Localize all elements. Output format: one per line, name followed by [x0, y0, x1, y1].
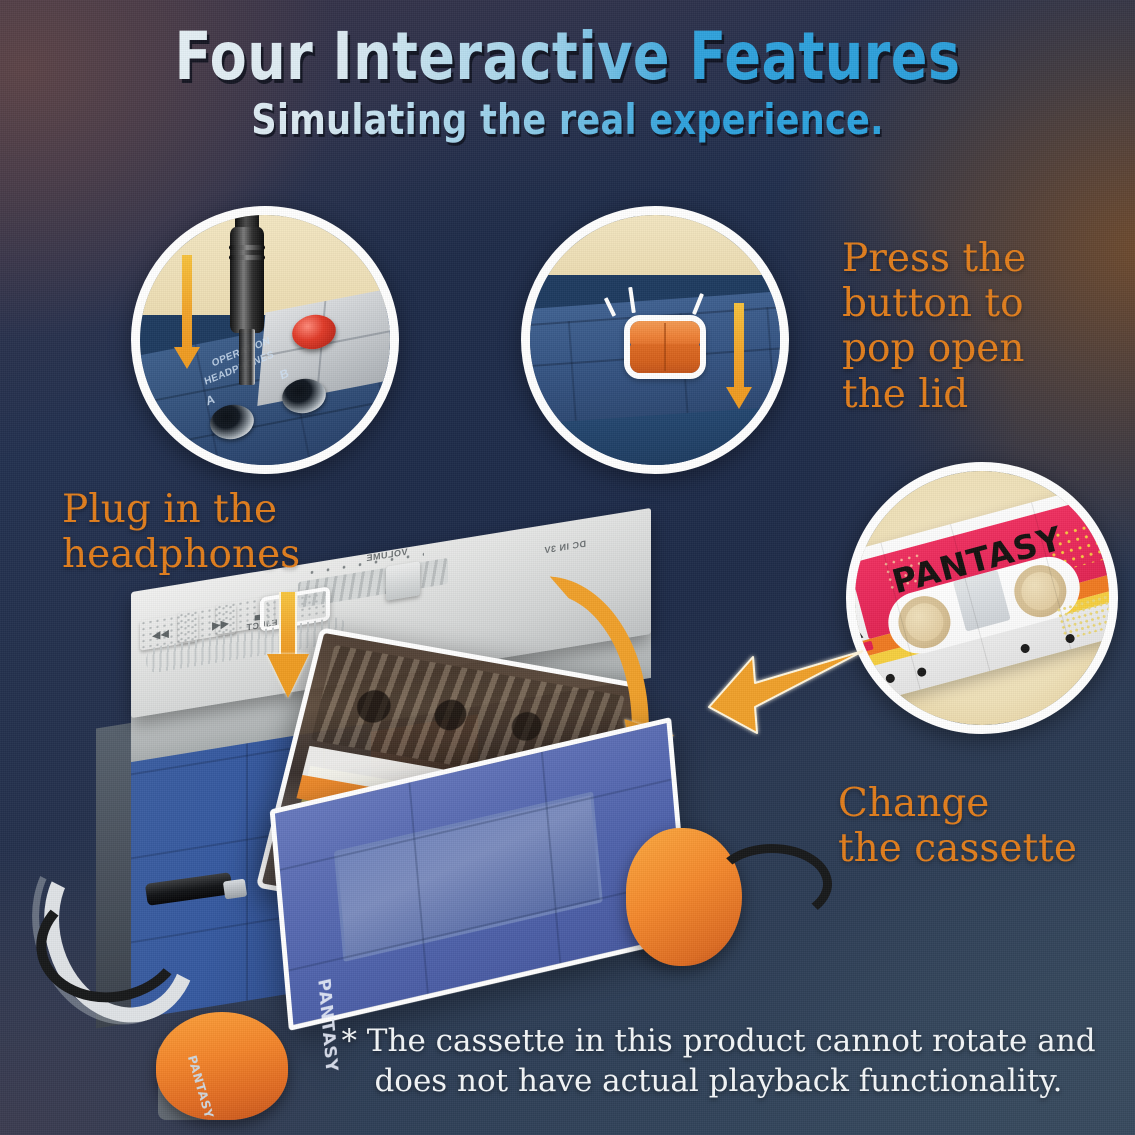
- down-arrow-icon: [174, 255, 200, 377]
- jack-pin: [239, 329, 255, 385]
- callout-bubble-press-button: [521, 206, 789, 474]
- cassette-screw-2: [916, 667, 927, 678]
- lid-window: [334, 792, 602, 962]
- callout-label-change-cassette: Change the cassette: [838, 781, 1077, 871]
- stop-icon: ■: [254, 611, 261, 624]
- jack-barrel: [230, 227, 264, 333]
- callout-label-press-button: Press the button to pop open the lid: [842, 236, 1026, 417]
- header-block: Four Interactive Features Simulating the…: [0, 26, 1135, 144]
- down-arrow-icon-2: [726, 303, 752, 415]
- callout-bubble-plug-headphones: OPERATION HEADPHONES A B: [131, 206, 399, 474]
- forward-icon: ▶▶: [212, 617, 229, 633]
- infographic-poster: Four Interactive Features Simulating the…: [0, 0, 1135, 1135]
- down-arrow-icon-plug: [267, 592, 309, 698]
- volume-slider-knob[interactable]: [386, 561, 420, 601]
- cassette-screw-1: [885, 673, 896, 684]
- eject-button-highlighted[interactable]: [624, 315, 706, 379]
- rewind-icon: ◀◀: [152, 627, 169, 643]
- page-title: Four Interactive Features: [102, 26, 1033, 89]
- callout-bubble-change-cassette: PANTASY A: [846, 462, 1118, 734]
- headphone-plug-tip: [223, 879, 247, 900]
- headphone-jack-plug: [224, 211, 270, 387]
- callout-label-plug-headphones: Plug in the headphones: [62, 487, 300, 577]
- footnote-disclaimer: * The cassette in this product cannot ro…: [0, 1022, 1135, 1101]
- headphone-cable-right: [712, 844, 832, 924]
- page-subtitle: Simulating the real experience.: [91, 95, 1044, 144]
- cassette-screw-3: [1020, 643, 1031, 654]
